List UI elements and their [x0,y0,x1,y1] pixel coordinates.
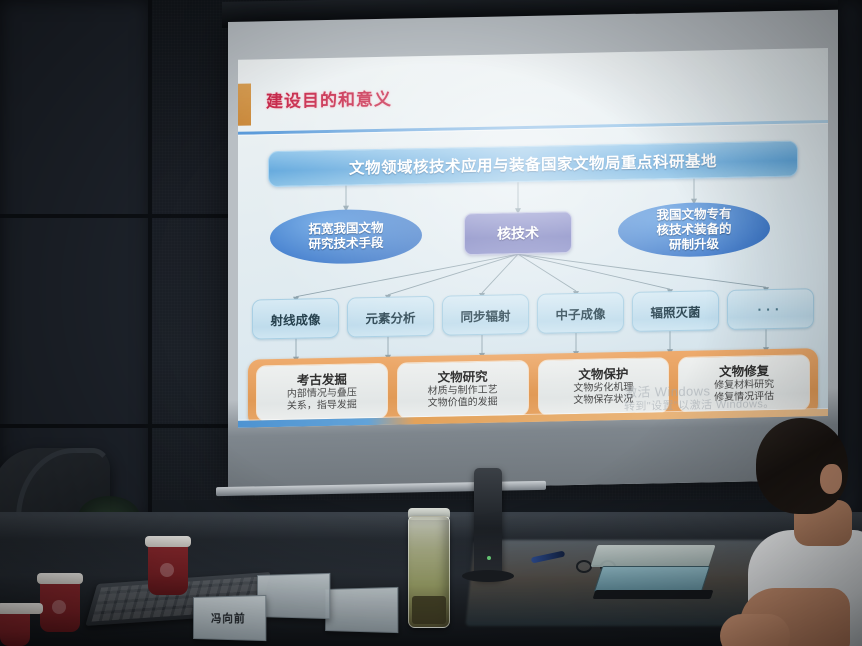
microphone-base [462,570,514,582]
wall-panel-left [0,0,150,520]
node-left-line1: 拓宽我国文物 [308,221,383,237]
base-title-banner: 文物领域核技术应用与装备国家文物局重点科研基地 [268,141,798,188]
tech-box-ellipsis: ··· [727,288,814,330]
paper-coffee-cup-back [148,543,188,595]
name-placard-third [325,587,398,633]
tea-leaves [412,596,446,624]
name-placard-first: 冯向前 [193,595,266,641]
node-broaden-research-means: 拓宽我国文物 研究技术手段 [270,208,422,265]
eyeglasses-lens-left [576,560,592,573]
title-accent-bar [238,84,251,126]
tablet-device[interactable] [594,566,710,592]
watermark-line-2: 转到"设置"以激活 Windows。 [624,396,824,414]
tablet-stand [593,590,714,599]
node-nuclear-technology: 核技术 [464,211,572,255]
conference-microphone[interactable] [474,468,502,578]
wall-seam-vertical [148,0,152,520]
app-heading: 文物修复 [719,364,769,380]
presentation-slide: 建设目的和意义 文物领域核技术应用与装备国家文物局重点科研基地 [238,48,828,428]
app-heading: 考古发掘 [297,372,347,388]
app-subline-2: 关系，指导发掘 [287,399,357,412]
wall-seam-horizontal-b [0,424,240,428]
app-box-archaeological-excavation: 考古发掘 内部情况与叠压 关系，指导发掘 [256,363,388,422]
node-left-line2: 研究技术手段 [308,236,383,252]
app-box-relic-research: 文物研究 材质与制作工艺 文物价值的发掘 [397,360,529,419]
paper-coffee-cup-corner [0,610,30,646]
node-right-line3: 研制升级 [669,237,719,252]
app-subline-2: 文物价值的发掘 [428,396,498,409]
paper-coffee-cup-front [40,580,80,632]
app-heading: 文物研究 [438,369,488,385]
tech-box-irradiation: 辐照灭菌 [632,290,719,332]
name-placard-label: 冯向前 [211,610,246,626]
conference-room-scene: 建设目的和意义 文物领域核技术应用与装备国家文物局重点科研基地 [0,0,862,646]
node-right-line1: 我国文物专有 [656,206,731,222]
node-right-line2: 核技术装备的 [656,221,731,237]
microphone-led-icon [487,556,491,560]
wall-seam-horizontal-a [0,214,240,218]
technology-row: 射线成像 元素分析 同步辐射 中子成像 辐照灭菌 ··· [252,288,814,339]
node-equipment-upgrade: 我国文物专有 核技术装备的 研制升级 [618,201,770,258]
slide-title: 建设目的和意义 [266,85,392,113]
tech-box-xray-imaging: 射线成像 [252,298,339,340]
attendee-hand [720,614,790,646]
name-placard-second [257,573,330,619]
attendee-ear [820,464,842,494]
tech-box-synchrotron: 同步辐射 [442,294,529,336]
cup-logo [52,600,66,614]
tech-box-element-analysis: 元素分析 [347,296,434,338]
attendee [742,418,862,646]
app-heading: 文物保护 [578,366,628,382]
tech-box-neutron-imaging: 中子成像 [537,292,624,334]
cup-logo [160,563,174,577]
notepad [590,545,715,567]
